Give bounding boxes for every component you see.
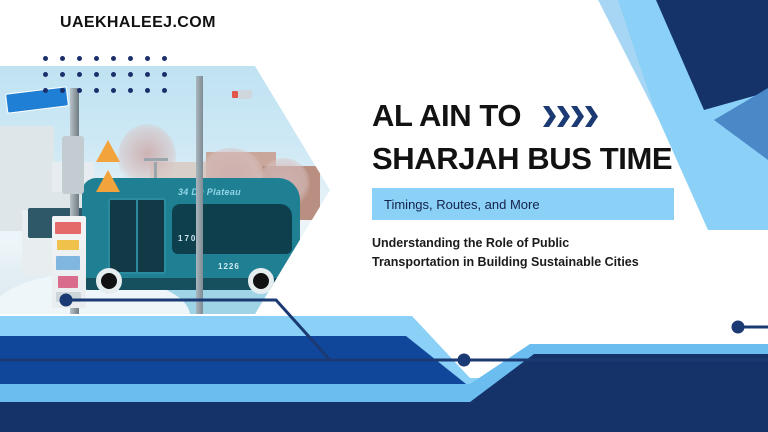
grid-dot xyxy=(162,88,167,93)
bus-door xyxy=(108,198,166,274)
bus-unit-number: 1226 xyxy=(218,262,240,271)
traffic-light-far xyxy=(238,90,252,99)
grid-dot xyxy=(128,56,133,61)
description-line-1: Understanding the Role of Public xyxy=(372,234,702,253)
orange-arrow-sign xyxy=(96,170,120,192)
deco-band-mid-blue xyxy=(0,336,466,384)
deco-line-right xyxy=(732,321,768,334)
grid-dot xyxy=(60,72,65,77)
pole-posters xyxy=(52,216,86,308)
orange-arrow-sign xyxy=(96,140,120,162)
site-logo[interactable]: UAEKHALEEJ.COM xyxy=(60,14,216,32)
bus-wheel xyxy=(96,268,122,294)
grid-dot xyxy=(128,88,133,93)
deco-band-light-lower xyxy=(0,344,768,432)
deco-shape-navy xyxy=(656,0,768,110)
grid-dot xyxy=(60,56,65,61)
grid-dot xyxy=(162,72,167,77)
deco-dot-right xyxy=(732,321,745,334)
grid-dot xyxy=(43,88,48,93)
page-title-line-2: SHARJAH BUS TIME xyxy=(372,143,732,174)
page-title-line-1: AL AIN TO xyxy=(372,100,521,131)
grid-dot xyxy=(145,88,150,93)
grid-dot xyxy=(94,56,99,61)
bus-windshield xyxy=(172,204,292,254)
grid-dot xyxy=(43,56,48,61)
bus-fleet-number: 170 xyxy=(178,234,197,243)
grid-dot xyxy=(77,88,82,93)
bus-wheel xyxy=(248,268,274,294)
subtitle-text: Timings, Routes, and More xyxy=(384,197,540,212)
description-line-2: Transportation in Building Sustainable C… xyxy=(372,253,702,272)
description-text: Understanding the Role of Public Transpo… xyxy=(372,234,702,272)
bus-destination-sign: 34 Du Plateau xyxy=(178,184,288,200)
grid-dot xyxy=(60,88,65,93)
chevron-arrows-icon xyxy=(543,106,598,127)
headline-block: AL AIN TO SHARJAH BUS TIME Timings, Rout… xyxy=(372,100,732,272)
grid-dot xyxy=(111,56,116,61)
street-pole xyxy=(196,76,203,314)
deco-dot-middle xyxy=(458,354,471,367)
grid-dot xyxy=(94,88,99,93)
deco-line-middle xyxy=(0,354,471,367)
deco-band-light-upper xyxy=(0,316,768,432)
grid-dot xyxy=(77,56,82,61)
grid-dot xyxy=(111,72,116,77)
grid-dot xyxy=(128,72,133,77)
grid-dot xyxy=(145,72,150,77)
grid-dot xyxy=(162,56,167,61)
grid-dot xyxy=(145,56,150,61)
traffic-signal-box xyxy=(62,136,84,194)
promo-banner: 34 Du Plateau 170 1226 xyxy=(0,0,768,432)
subtitle-band: Timings, Routes, and More xyxy=(372,188,674,220)
dot-grid-decoration xyxy=(43,56,179,104)
deco-band-navy-base xyxy=(0,354,768,432)
grid-dot xyxy=(111,88,116,93)
grid-dot xyxy=(43,72,48,77)
headline-row-1: AL AIN TO xyxy=(372,100,732,131)
grid-dot xyxy=(94,72,99,77)
grid-dot xyxy=(77,72,82,77)
